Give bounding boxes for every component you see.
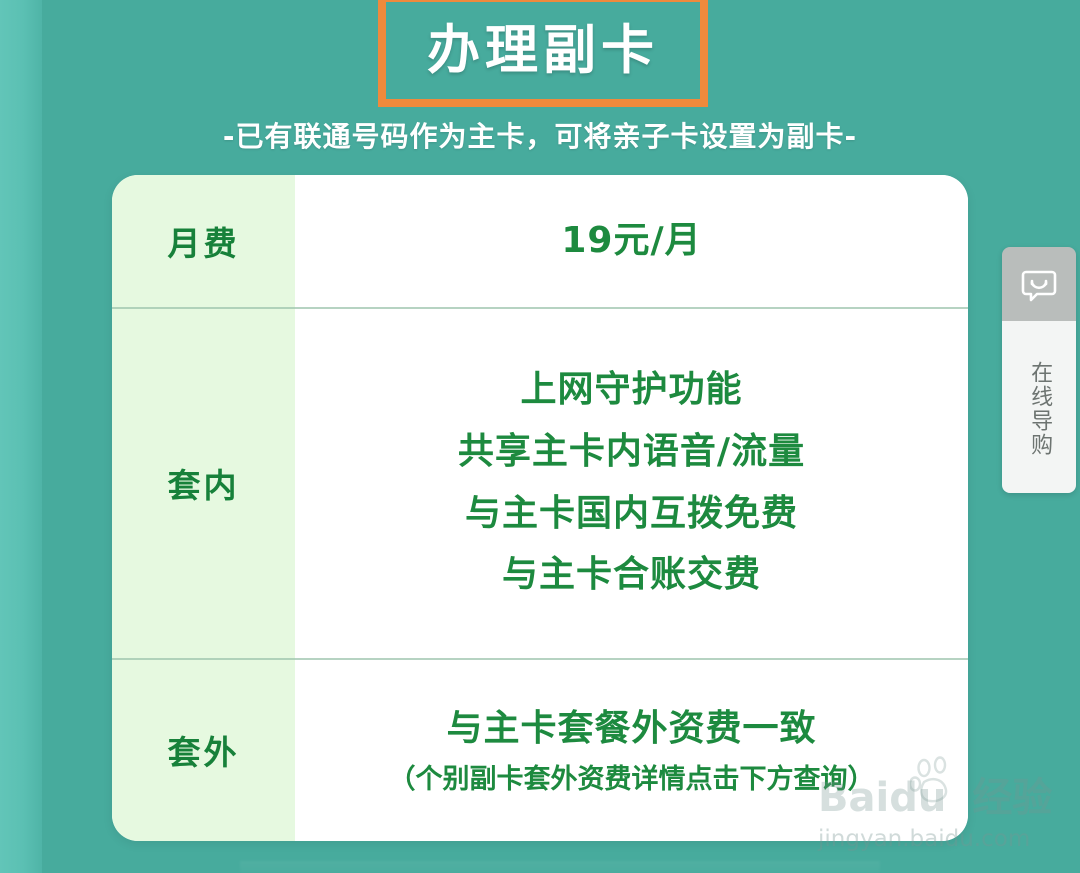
page-title-highlight-box: 办理副卡 [378,0,708,107]
value-note: （个别副卡套外资费详情点击下方查询） [389,760,875,801]
value-line: 上网守护功能 [520,359,742,421]
value-line: 与主卡合账交费 [502,544,761,606]
chat-bubble-smile-icon[interactable] [1002,247,1076,321]
value-line: 共享主卡内语音/流量 [458,421,805,483]
table-row: 月费 19元/月 [112,175,968,307]
row-value-monthly-fee: 19元/月 [295,175,968,307]
page-subtitle: -已有联通号码作为主卡，可将亲子卡设置为副卡- [0,115,1080,155]
table-row: 套内 上网守护功能 共享主卡内语音/流量 与主卡国内互拨免费 与主卡合账交费 [112,307,968,658]
screenshot-root: 办理副卡 -已有联通号码作为主卡，可将亲子卡设置为副卡- 月费 19元/月 套内… [0,0,1080,873]
value-line: 19元/月 [561,210,701,272]
value-line: 与主卡国内互拨免费 [465,483,798,545]
bottom-cropped-text-sliver [240,861,880,873]
table-row: 套外 与主卡套餐外资费一致 （个别副卡套外资费详情点击下方查询） [112,658,968,841]
row-value-in-plan: 上网守护功能 共享主卡内语音/流量 与主卡国内互拨免费 与主卡合账交费 [295,307,968,658]
row-value-out-of-plan: 与主卡套餐外资费一致 （个别副卡套外资费详情点击下方查询） [295,658,968,841]
row-label-out-of-plan: 套外 [112,658,295,841]
page-title: 办理副卡 [427,24,659,77]
plan-detail-card: 月费 19元/月 套内 上网守护功能 共享主卡内语音/流量 与主卡国内互拨免费 … [112,175,968,841]
row-label-monthly-fee: 月费 [112,175,295,307]
online-guide-widget[interactable]: 在线导购 [1002,247,1076,493]
value-line: 与主卡套餐外资费一致 [446,698,816,760]
online-guide-label[interactable]: 在线导购 [1002,321,1076,493]
row-label-in-plan: 套内 [112,307,295,658]
